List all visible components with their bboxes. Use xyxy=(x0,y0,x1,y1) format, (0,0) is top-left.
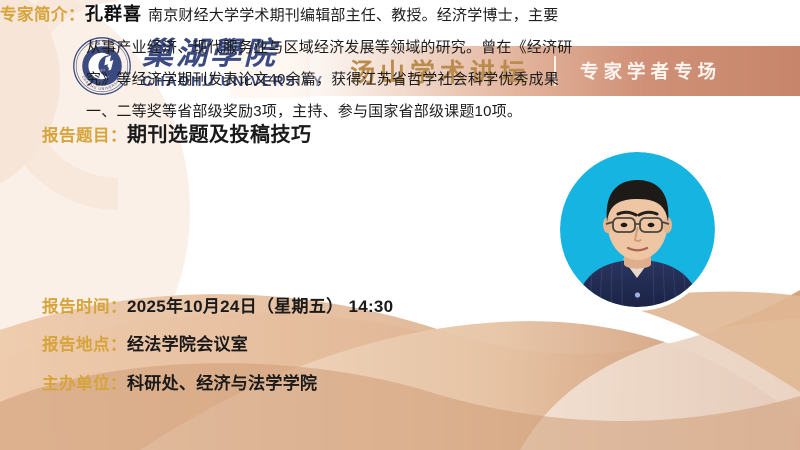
bio-line-3: 究》等经济学期刊发表论文40余篇，获得江苏省哲学社会科学优秀成果 xyxy=(86,65,520,94)
report-place-value: 经法学院会议室 xyxy=(127,330,248,355)
organizer-row: 主办单位： 科研处、经济与法学学院 xyxy=(42,369,317,394)
report-place-label: 报告地点： xyxy=(42,331,127,355)
report-time-label: 报告时间： xyxy=(42,293,127,317)
poster-canvas: 1977 巢湖学院 CHAOHU UNIVERSITY 巢湖學院 CHAOHU … xyxy=(0,0,800,450)
bio-text-line-1: 南京财经大学学术期刊编辑部主任、教授。经济学博士，主要 xyxy=(148,1,558,30)
speaker-name: 孔群喜 xyxy=(85,0,142,26)
report-title-value: 期刊选题及投稿技巧 xyxy=(127,118,312,147)
report-title-row: 报告题目： 期刊选题及投稿技巧 xyxy=(42,118,312,147)
report-time-row: 报告时间： 2025年10月24日（星期五） 14:30 xyxy=(42,292,393,317)
bio-line-2: 从事产业经济、现代服务业与区域经济发展等领域的研究。曾在《经济研 xyxy=(86,33,520,62)
organizer-value: 科研处、经济与法学学院 xyxy=(127,369,317,394)
report-place-row: 报告地点： 经法学院会议室 xyxy=(42,330,248,355)
speaker-bio-label: 专家简介： xyxy=(0,1,85,25)
bio-text-line-2: 从事产业经济、现代服务业与区域经济发展等领域的研究。曾在《经济研 xyxy=(86,33,572,62)
poster-content: 报告题目： 期刊选题及投稿技巧 专家简介： 孔群喜 南京财经大学学术期刊编辑部主… xyxy=(0,0,800,450)
bio-text-line-3: 究》等经济学期刊发表论文40余篇，获得江苏省哲学社会科学优秀成果 xyxy=(86,65,559,94)
speaker-bio-block: 专家简介： 孔群喜 南京财经大学学术期刊编辑部主任、教授。经济学博士，主要 从事… xyxy=(0,0,520,126)
bio-first-line: 专家简介： 孔群喜 南京财经大学学术期刊编辑部主任、教授。经济学博士，主要 xyxy=(0,0,520,30)
organizer-label: 主办单位： xyxy=(42,370,127,394)
speaker-portrait-photo xyxy=(560,152,715,307)
report-time-value: 2025年10月24日（星期五） 14:30 xyxy=(127,292,393,317)
report-title-label: 报告题目： xyxy=(42,122,127,146)
